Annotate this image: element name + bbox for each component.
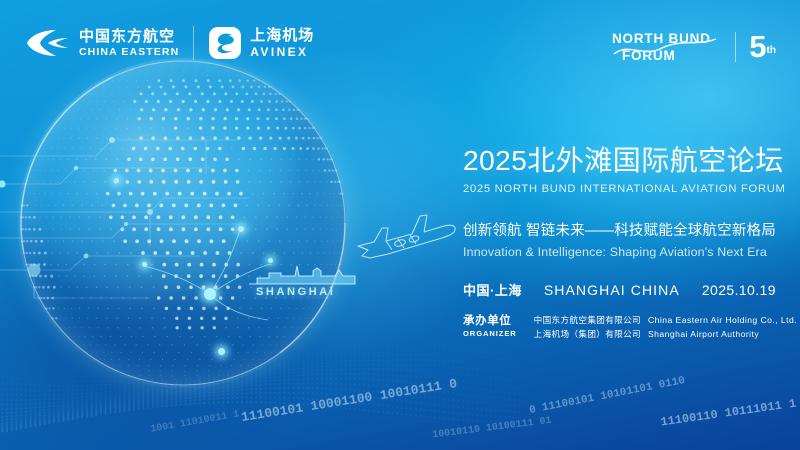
globe-dot-matrix: [18, 58, 348, 388]
shanghai-skyline-icon: [247, 262, 357, 286]
north-bund-forum-logo[interactable]: NORTH BUND FORUM 5 th: [610, 28, 776, 66]
globe-node-e: [114, 178, 119, 183]
event-date: 2025.10.19: [702, 282, 776, 298]
event-location-en: SHANGHAI CHINA: [544, 282, 680, 298]
binary-row-2: 0 11100101 10101101 0110: [528, 375, 686, 417]
page-title-cn: 2025北外滩国际航空论坛: [463, 146, 783, 177]
china-eastern-name-en: CHINA EASTERN: [79, 47, 179, 58]
logo-divider: [193, 26, 194, 60]
organizer-block: 承办单位 ORGANIZER 中国东方航空集团有限公司 China Easter…: [463, 314, 783, 340]
forum-logo-line2: FORUM: [622, 48, 676, 63]
globe-graphic: [18, 58, 348, 388]
globe-node-shanghai: [204, 288, 216, 300]
page-title-en: 2025 NORTH BUND INTERNATIONAL AVIATION F…: [463, 183, 783, 195]
binary-row-4: 10010110 10100111 01: [432, 416, 552, 442]
organizer-label-cn: 承办单位: [463, 314, 517, 328]
forum-logo-line1: NORTH BUND: [612, 31, 711, 46]
edition-ordinal: th: [767, 45, 776, 56]
sponsor-logo-group: 中国东方航空 CHINA EASTERN 上海机场 AVINEX: [26, 26, 314, 60]
shanghai-airport-wordmark: 上海机场 AVINEX: [250, 28, 314, 58]
poster-canvas: SHANGHAI 11100101 10001100 10010111 0 0 …: [0, 0, 800, 450]
globe-node-b: [142, 262, 147, 267]
organizer-label-en: ORGANIZER: [463, 329, 517, 339]
organizer-name-en: Shanghai Airport Authority: [648, 329, 759, 339]
forum-logo-divider: [735, 32, 736, 62]
organizer-label: 承办单位 ORGANIZER: [463, 314, 525, 339]
swallow-icon: [26, 27, 70, 59]
china-eastern-name-cn: 中国东方航空: [79, 29, 179, 44]
shanghai-airport-logo[interactable]: 上海机场 AVINEX: [208, 26, 314, 60]
binary-row-3: 11100110 10111011 1: [660, 397, 797, 430]
swirl-square-icon: [208, 26, 242, 60]
globe-node-d: [218, 348, 225, 355]
forum-theme-cn: 创新领航 智链未来——科技赋能全球航空新格局: [463, 219, 783, 240]
organizer-name-en: China Eastern Air Holding Co., Ltd.: [648, 315, 797, 325]
forum-logo-mark: NORTH BUND FORUM: [610, 28, 722, 66]
shanghai-airport-name-cn: 上海机场: [250, 28, 314, 43]
shanghai-airport-name-en: AVINEX: [250, 46, 314, 58]
china-eastern-logo[interactable]: 中国东方航空 CHINA EASTERN: [26, 27, 179, 59]
china-eastern-wordmark: 中国东方航空 CHINA EASTERN: [79, 29, 179, 58]
event-meta: 中国·上海 SHANGHAI CHINA 2025.10.19: [463, 280, 783, 299]
globe-node-a: [238, 226, 244, 232]
shanghai-marker-label: SHANGHAI: [256, 286, 335, 298]
event-location-cn: 中国·上海: [463, 280, 522, 299]
organizer-list: 中国东方航空集团有限公司 China Eastern Air Holding C…: [534, 314, 797, 340]
organizer-row: 中国东方航空集团有限公司 China Eastern Air Holding C…: [534, 314, 797, 326]
airplane-icon: [348, 198, 466, 270]
organizer-name-cn: 中国东方航空集团有限公司: [534, 314, 641, 326]
edition-number: 5: [749, 32, 765, 61]
organizer-row: 上海机场（集团）有限公司 Shanghai Airport Authority: [534, 328, 797, 340]
organizer-name-cn: 上海机场（集团）有限公司: [534, 328, 641, 340]
main-content: 2025北外滩国际航空论坛 2025 NORTH BUND INTERNATIO…: [463, 146, 783, 340]
edition-badge: 5 th: [749, 32, 776, 61]
forum-theme-en: Innovation & Intelligence: Shaping Aviat…: [463, 245, 783, 259]
